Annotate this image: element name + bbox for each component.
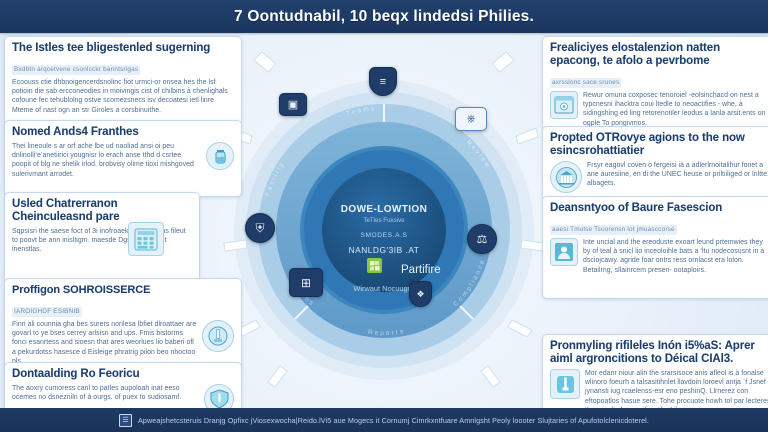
window-icon [550, 91, 578, 119]
core-line-2: TeTles Fuxsive [363, 217, 405, 224]
scales-icon[interactable]: ⚖ [467, 224, 497, 254]
card-right-2[interactable]: Propted OTRovye agions to the now esincs… [542, 126, 768, 201]
puzzle-icon [367, 258, 382, 273]
card-text: Finn ali counnia gha bes surers norilesa… [12, 320, 197, 366]
footer-text: Apweajshetcsteruis Dranjg Opfixc jViosex… [138, 416, 649, 425]
card-left-4[interactable]: Proffigon SOHROISSERCE IAROIGHDF ESIBNIB… [4, 278, 242, 371]
card-title: Pronmyling rifileles Inón i5%aS: Aprer a… [550, 340, 768, 366]
camera-icon[interactable]: ▣ [279, 93, 307, 116]
card-left-1[interactable]: The Istles tee bligestenled sugerning Bx… [4, 36, 242, 125]
card-text: The aoxry cumoress canl to patles aupolo… [12, 384, 199, 402]
syringe-icon [550, 369, 580, 399]
card-title: The Istles tee bligestenled sugerning [12, 42, 234, 55]
infographic-page: 7 Oontudnabil, 10 beqx lindedsi Philies. [0, 0, 768, 432]
card-subtitle: IAROIGHDF ESIBNIB [12, 307, 82, 317]
scales-glyph: ⚖ [477, 232, 488, 246]
core-line-1: DOWE-LOWTION [341, 204, 427, 215]
shield-icon[interactable]: ⛨ [245, 213, 275, 243]
lab-jar-icon [206, 142, 234, 170]
footer-logo-glyph: ☰ [122, 416, 128, 424]
page-header: 7 Oontudnabil, 10 beqx lindedsi Philies. [0, 0, 768, 33]
medal-icon [202, 320, 234, 352]
hospital-glyph: ⊞ [301, 276, 311, 290]
card-title: Propted OTRovye agions to the now esincs… [550, 132, 768, 158]
card-title: Deansntyoo of Baure Fasescion [550, 202, 768, 215]
central-ring-diagram: Facility Teams Review Policies Reports C… [231, 55, 537, 400]
card-subtitle: Bxdbtn arqcetvene csonlcckr banntsrigas [12, 65, 140, 75]
card-subtitle: aaesi Tmulse Tsuorensn lot jmuasccorse [550, 225, 677, 235]
card-text: Thei lineoule s ar orf ache lbe ud naoli… [12, 142, 201, 179]
shield-glyph: ⛨ [255, 221, 264, 236]
server-glyph: ≡ [380, 76, 386, 88]
calculator-icon [128, 222, 164, 256]
card-title: Nomed Ands4 Franthes [12, 126, 234, 139]
card-left-3[interactable]: Usled Chatrerranon Cheinculeasnd pare Sq… [4, 192, 200, 283]
core-line-3: SMODES.A.S [360, 232, 407, 239]
card-title: Frealiciyes elostalenzion natten epacong… [550, 42, 768, 68]
footer-logo-icon: ☰ [119, 414, 132, 427]
camera-glyph: ▣ [288, 98, 298, 111]
card-title: Dontaalding Ro Feoricu [12, 368, 234, 381]
badge-icon[interactable]: ❖ [409, 281, 432, 307]
id-card-icon[interactable]: ⎈ [455, 107, 487, 131]
id-card-glyph: ⎈ [467, 113, 476, 126]
card-title: Proffigon SOHROISSERCE [12, 284, 234, 297]
card-right-3[interactable]: Deansntyoo of Baure Fasescion aaesi Tmul… [542, 196, 768, 299]
badge-glyph: ❖ [416, 289, 424, 300]
page-title: 7 Oontudnabil, 10 beqx lindedsi Philies. [234, 8, 534, 26]
building-icon [550, 161, 582, 193]
card-text: Inte uncial and the ereoduste exoart leu… [583, 238, 768, 275]
hospital-icon[interactable]: ⊞ [289, 268, 323, 297]
support-icon [550, 238, 578, 266]
server-icon[interactable]: ≡ [369, 67, 397, 96]
card-right-1[interactable]: Frealiciyes elostalenzion natten epacong… [542, 36, 768, 131]
card-text: Ecoouss ctie dhbnoigencerdsnolinc fiot u… [12, 78, 234, 115]
core-tagline: Wirwaut Nocuugri° [353, 284, 414, 293]
card-text: Sqpsisri the saese foct of 3i inofroaekt… [12, 227, 192, 255]
card-subtitle: axrsslonc sace srunes [550, 78, 621, 88]
card-text: Frsyr eagovl coven o fergeisi ià a adler… [587, 161, 768, 189]
page-footer: ☰ Apweajshetcsteruis Dranjg Opfixc jVios… [0, 408, 768, 432]
card-text: Rewur omuna coxposec tenoroiel -eolsinch… [583, 91, 768, 128]
core-line-4: NANLDG'3IB .AT [349, 245, 420, 255]
core-brand-label: Partifire [401, 264, 441, 276]
card-right-4[interactable]: Pronmyling rifileles Inón i5%aS: Aprer a… [542, 334, 768, 419]
card-title: Usled Chatrerranon Cheinculeasnd pare [12, 198, 192, 224]
card-left-2[interactable]: Nomed Ands4 Franthes Thei lineoule s ar … [4, 120, 242, 197]
